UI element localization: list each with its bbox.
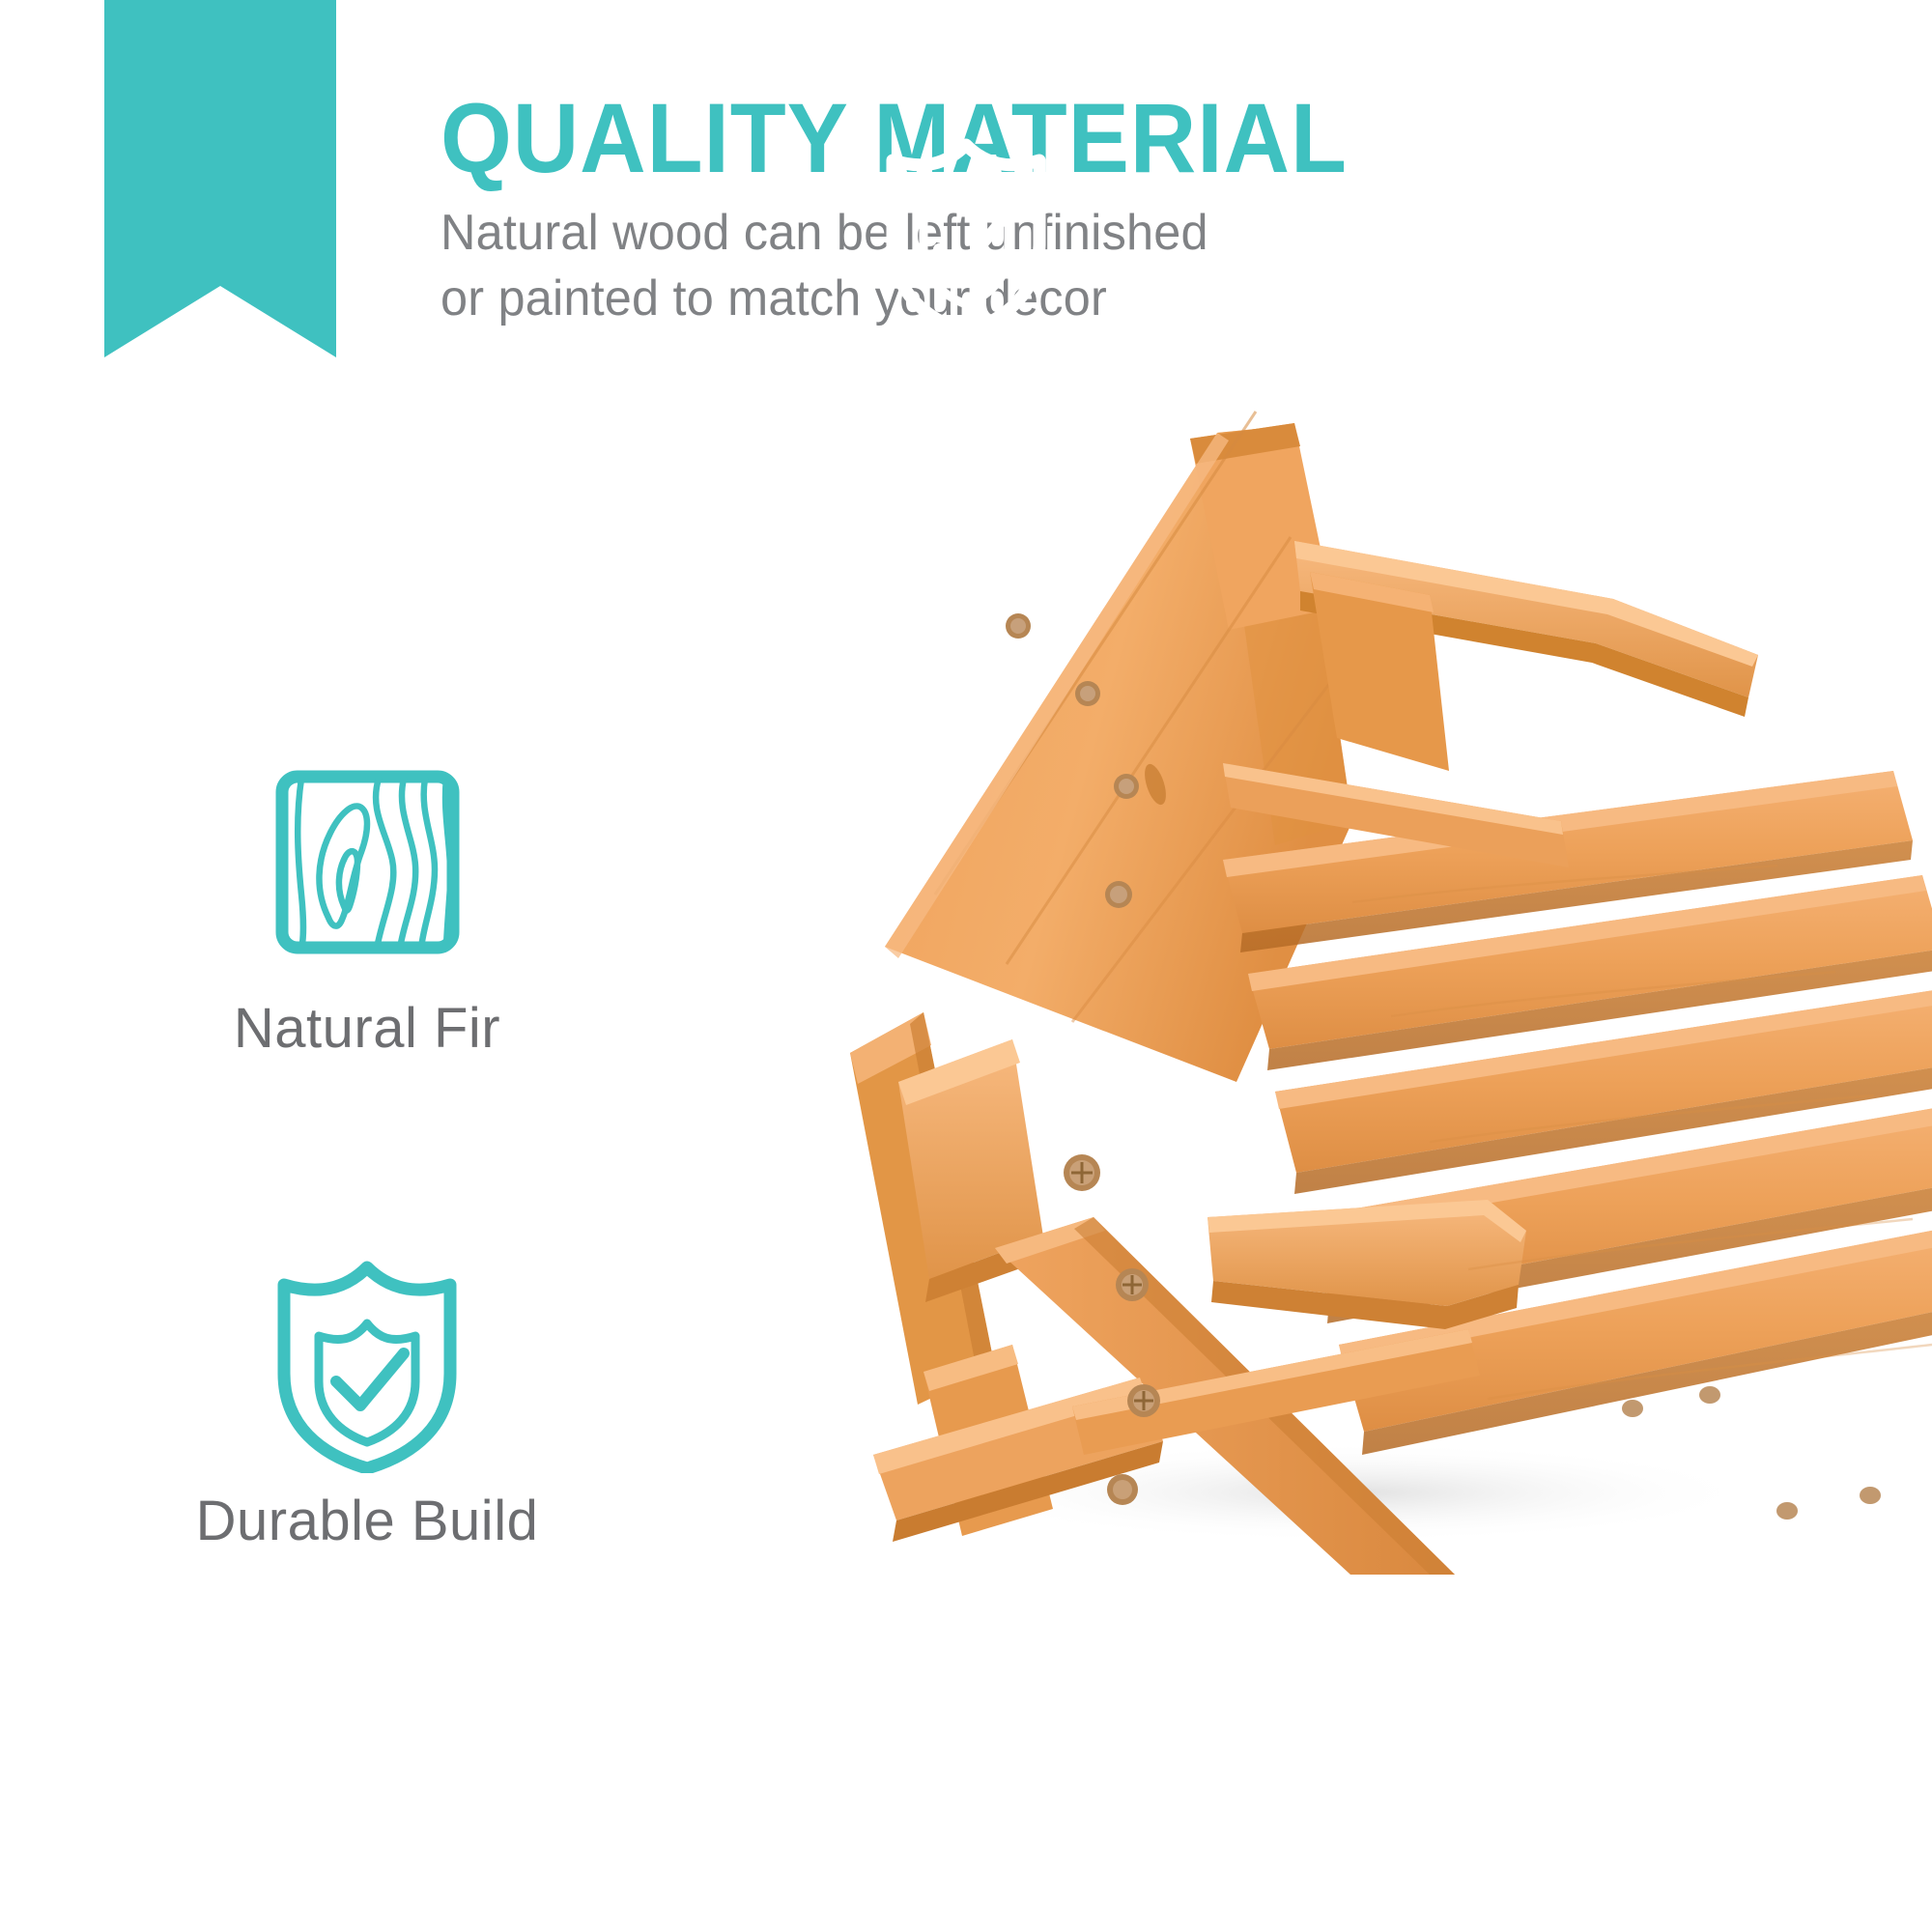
product-photo-wooden-bench: [753, 319, 1932, 1575]
feature-label-durable-build: Durable Build: [0, 1491, 734, 1552]
subtitle-line-1: Natural wood can be left unfinished: [440, 201, 1208, 267]
bench-armrest-center: [1207, 1200, 1526, 1329]
bench-armrest-rear: [1294, 541, 1758, 771]
shield-check-icon: [269, 1256, 467, 1454]
feature-durable-build: Durable Build: [0, 1256, 734, 1552]
bench-seat-slats: [1223, 771, 1932, 1455]
feature-natural-fir: Natural Fir: [0, 763, 734, 1060]
page-subtitle: Natural wood can be left unfinished or p…: [440, 201, 1208, 331]
quality-banner-ribbon: [104, 0, 336, 357]
shield-check-icon: [879, 135, 1053, 338]
feature-label-natural-fir: Natural Fir: [0, 998, 734, 1060]
wood-grain-icon: [269, 763, 467, 961]
